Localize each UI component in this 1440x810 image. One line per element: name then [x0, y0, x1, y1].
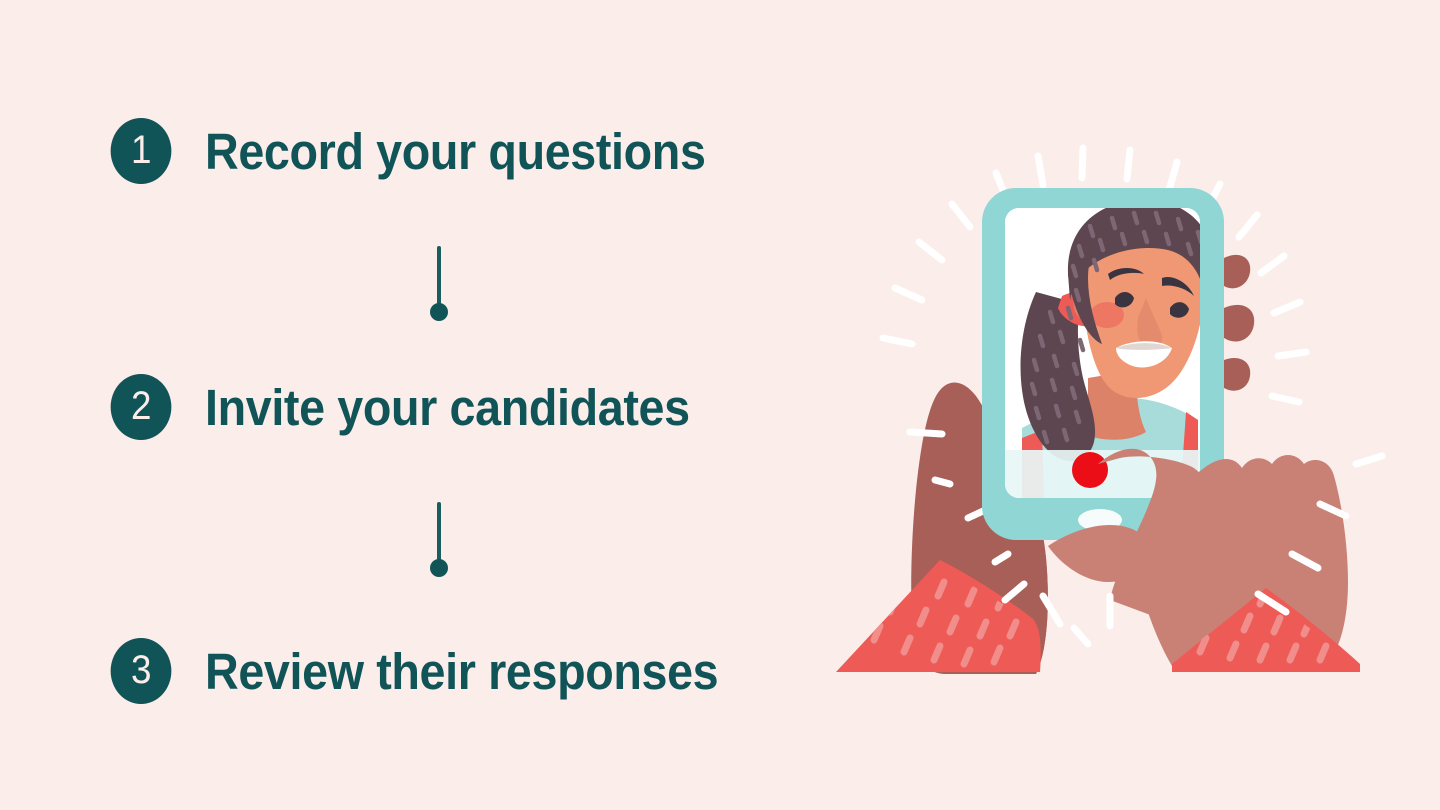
step-number-badge-1: 1 [111, 118, 172, 184]
woman-portrait-on-screen [1005, 200, 1216, 498]
record-button-icon [1072, 452, 1108, 488]
step-number-2: 2 [131, 386, 151, 429]
connector-1-to-2 [429, 246, 449, 330]
connector-dot-icon [430, 559, 448, 577]
step-number-3: 3 [131, 650, 151, 693]
step-item-1[interactable]: 1 Record your questions [108, 118, 752, 184]
step-number-1: 1 [131, 130, 151, 173]
step-number-badge-3: 3 [111, 638, 172, 704]
connector-2-to-3 [429, 502, 449, 586]
step-label-3: Review their responses [205, 646, 718, 697]
connector-line-icon [437, 502, 441, 564]
right-hand-fingers [1224, 255, 1254, 391]
step-label-2: Invite your candidates [205, 382, 690, 433]
steps-list: 1 Record your questions 2 Invite your ca… [0, 0, 820, 810]
illustration-hands-holding-phone [800, 60, 1420, 740]
step-number-badge-2: 2 [111, 374, 172, 440]
slide-canvas: 1 Record your questions 2 Invite your ca… [0, 0, 1440, 810]
step-item-2[interactable]: 2 Invite your candidates [108, 374, 735, 440]
step-label-1: Record your questions [205, 126, 706, 177]
step-item-3[interactable]: 3 Review their responses [108, 638, 766, 704]
connector-dot-icon [430, 303, 448, 321]
connector-line-icon [437, 246, 441, 308]
